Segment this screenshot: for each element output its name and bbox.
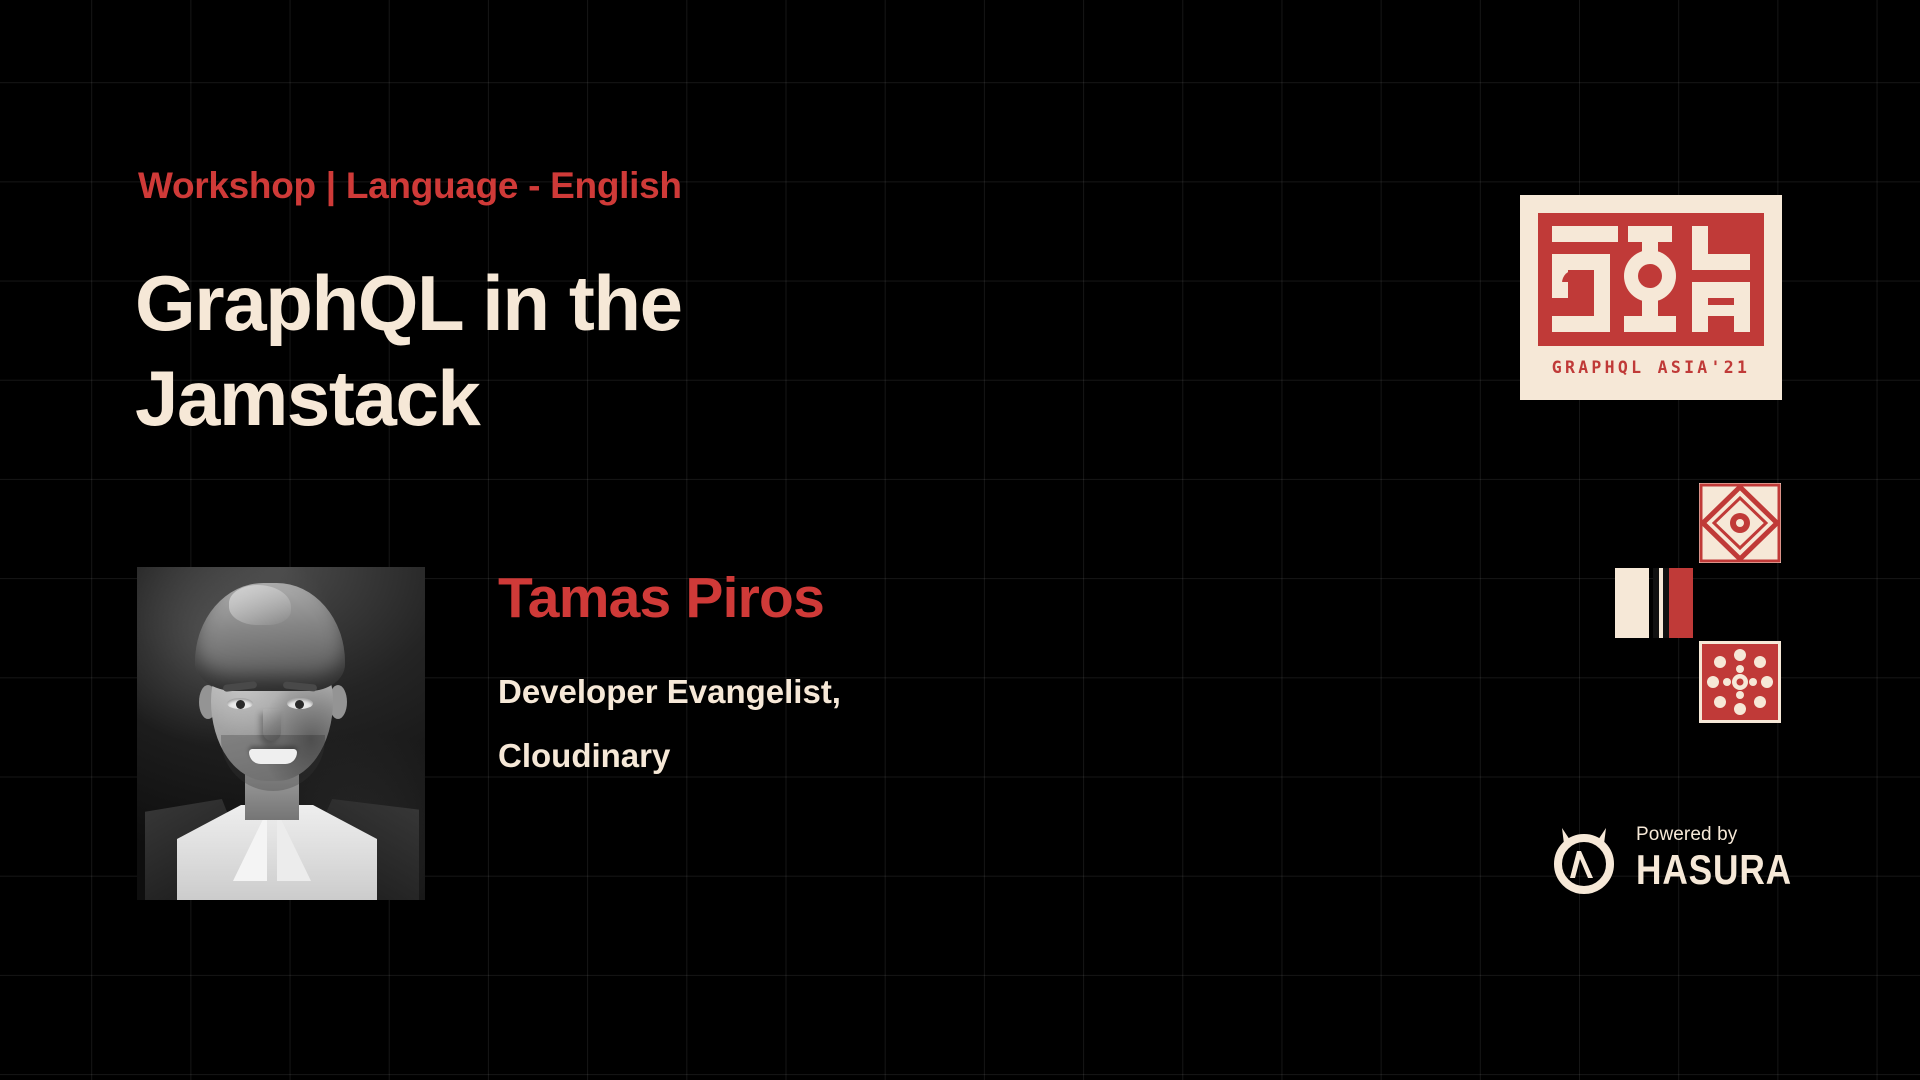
- speaker-photo: [137, 567, 425, 900]
- graphql-asia-logo: GRAPHQL ASIA'21: [1520, 195, 1782, 400]
- page-title: GraphQL in the Jamstack: [135, 256, 895, 446]
- title-line-1: GraphQL in the: [135, 256, 895, 351]
- speaker-role-line-2: Cloudinary: [498, 724, 1058, 788]
- ornament-cluster: [1615, 483, 1785, 743]
- ornament-diamond-tile-icon: [1699, 483, 1781, 563]
- event-wordmark: GRAPHQL ASIA'21: [1538, 358, 1764, 377]
- hasura-name: HASURA: [1636, 849, 1792, 891]
- hasura-sponsor-logo: Powered by HASURA: [1548, 822, 1822, 894]
- ornament-bar-tile-icon: [1615, 568, 1693, 638]
- title-line-2: Jamstack: [135, 351, 895, 446]
- speaker-role-line-1: Developer Evangelist,: [498, 660, 1058, 724]
- session-eyebrow: Workshop | Language - English: [138, 165, 682, 207]
- graphql-asia-glyph-mark-icon: [1538, 213, 1764, 346]
- speaker-name: Tamas Piros: [498, 565, 824, 631]
- headshot-illustration: [137, 567, 425, 900]
- slide-canvas: Workshop | Language - English GraphQL in…: [0, 0, 1920, 1080]
- hasura-wordmark: Powered by HASURA: [1636, 825, 1822, 891]
- speaker-role: Developer Evangelist, Cloudinary: [498, 660, 1058, 787]
- powered-by-label: Powered by: [1636, 825, 1822, 844]
- hasura-lambda-icon: [1548, 822, 1620, 894]
- ornament-floral-tile-icon: [1699, 641, 1781, 723]
